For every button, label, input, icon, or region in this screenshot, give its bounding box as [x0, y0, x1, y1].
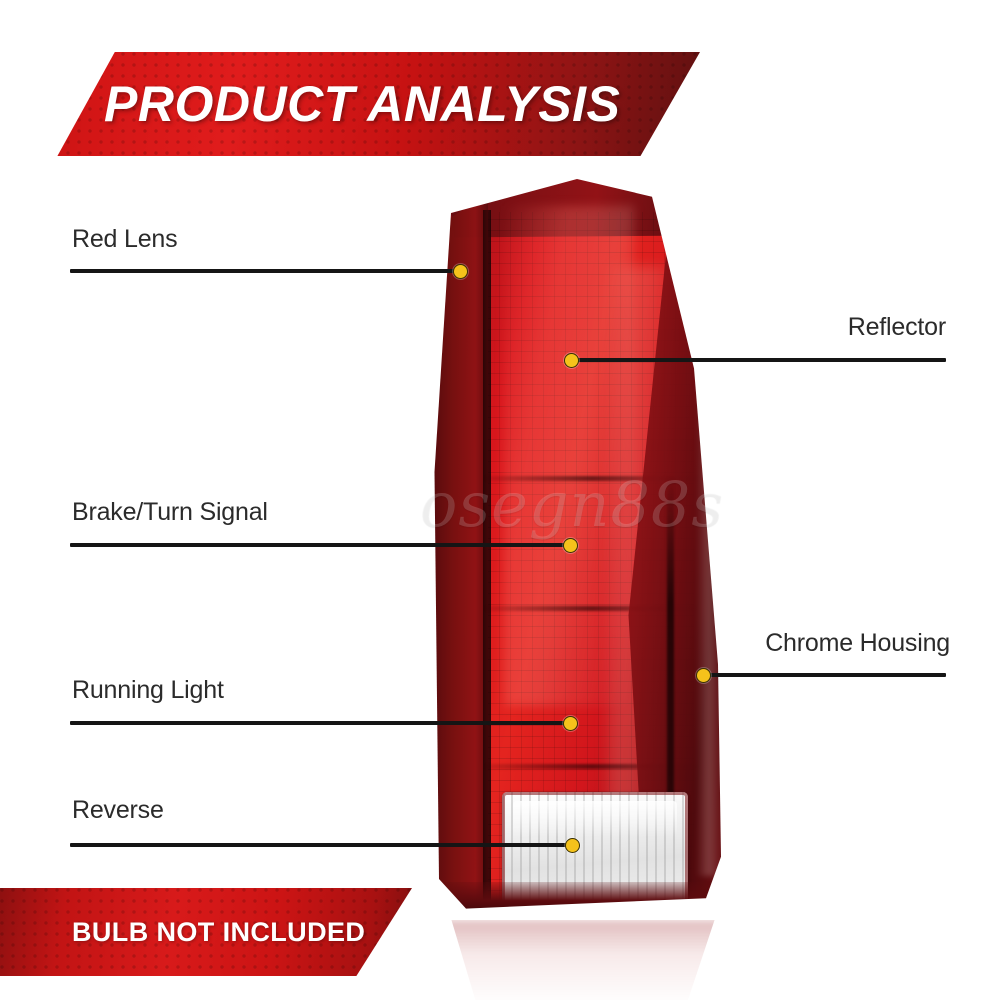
callout-label-brake-turn-signal: Brake/Turn Signal: [72, 498, 268, 527]
product-image-tail-light: osegn88s: [410, 168, 790, 968]
callout-label-chrome-housing: Chrome Housing: [765, 629, 950, 658]
callout-line-running-light: [70, 721, 570, 725]
callout-dot-brake-turn-signal: [563, 538, 578, 553]
callout-dot-red-lens: [453, 264, 468, 279]
callout-line-reflector: [575, 358, 946, 362]
lens-left-edge: [430, 194, 488, 912]
callout-label-running-light: Running Light: [72, 676, 224, 705]
callout-dot-reverse: [565, 838, 580, 853]
callout-label-red-lens: Red Lens: [72, 225, 177, 254]
callout-line-brake-turn-signal: [70, 543, 570, 547]
callout-dot-reflector: [564, 353, 579, 368]
callout-line-red-lens: [70, 269, 460, 273]
product-floor-reflection: [440, 920, 726, 1000]
callout-dot-running-light: [563, 716, 578, 731]
page-title: PRODUCT ANALYSIS: [0, 52, 700, 156]
callout-line-reverse: [70, 843, 572, 847]
lens-bottom-rim: [434, 882, 726, 916]
callout-label-reflector: Reflector: [848, 313, 946, 342]
callout-line-chrome-housing: [708, 673, 946, 677]
housing-sheen: [696, 236, 722, 876]
callout-label-reverse: Reverse: [72, 796, 164, 825]
callout-dot-chrome-housing: [696, 668, 711, 683]
footer-notice: BULB NOT INCLUDED: [0, 888, 412, 976]
